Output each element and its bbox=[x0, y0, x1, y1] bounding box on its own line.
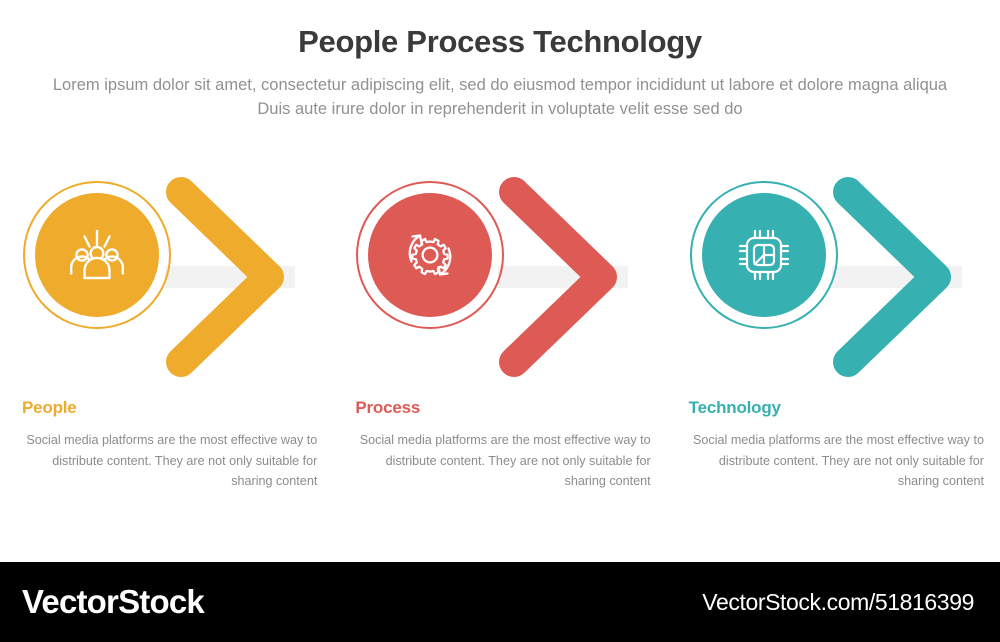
footer-bar: VectorStock VectorStock.com/51816399 bbox=[0, 562, 1000, 642]
item-graphic bbox=[333, 170, 666, 382]
chevron-right-icon bbox=[165, 176, 285, 378]
item-text: Technology Social media platforms are th… bbox=[667, 398, 1000, 492]
item-text: Process Social media platforms are the m… bbox=[333, 398, 666, 492]
icon-badge[interactable] bbox=[690, 181, 838, 329]
item-title: People bbox=[18, 398, 317, 418]
brand-url: VectorStock.com/51816399 bbox=[702, 589, 974, 616]
infographic-canvas: People Process Technology Lorem ipsum do… bbox=[0, 0, 1000, 642]
item-description: Social media platforms are the most effe… bbox=[685, 430, 984, 492]
icon-badge[interactable] bbox=[23, 181, 171, 329]
item-graphic bbox=[0, 170, 333, 382]
item-process[interactable]: Process Social media platforms are the m… bbox=[333, 170, 666, 510]
item-description: Social media platforms are the most effe… bbox=[18, 430, 317, 492]
item-graphic bbox=[667, 170, 1000, 382]
gear-refresh-icon bbox=[368, 193, 492, 317]
people-group-icon bbox=[35, 193, 159, 317]
item-title: Process bbox=[351, 398, 650, 418]
item-technology[interactable]: Technology Social media platforms are th… bbox=[667, 170, 1000, 510]
header: People Process Technology Lorem ipsum do… bbox=[0, 0, 1000, 121]
chevron-right-icon bbox=[832, 176, 952, 378]
cpu-chip-icon bbox=[702, 193, 826, 317]
item-people[interactable]: People Social media platforms are the mo… bbox=[0, 170, 333, 510]
item-description: Social media platforms are the most effe… bbox=[351, 430, 650, 492]
item-title: Technology bbox=[685, 398, 984, 418]
page-subtitle: Lorem ipsum dolor sit amet, consectetur … bbox=[50, 74, 950, 122]
icon-badge[interactable] bbox=[356, 181, 504, 329]
page-title: People Process Technology bbox=[0, 24, 1000, 60]
item-text: People Social media platforms are the mo… bbox=[0, 398, 333, 492]
brand-logo: VectorStock bbox=[22, 583, 204, 621]
chevron-right-icon bbox=[498, 176, 618, 378]
items-row: People Social media platforms are the mo… bbox=[0, 170, 1000, 510]
